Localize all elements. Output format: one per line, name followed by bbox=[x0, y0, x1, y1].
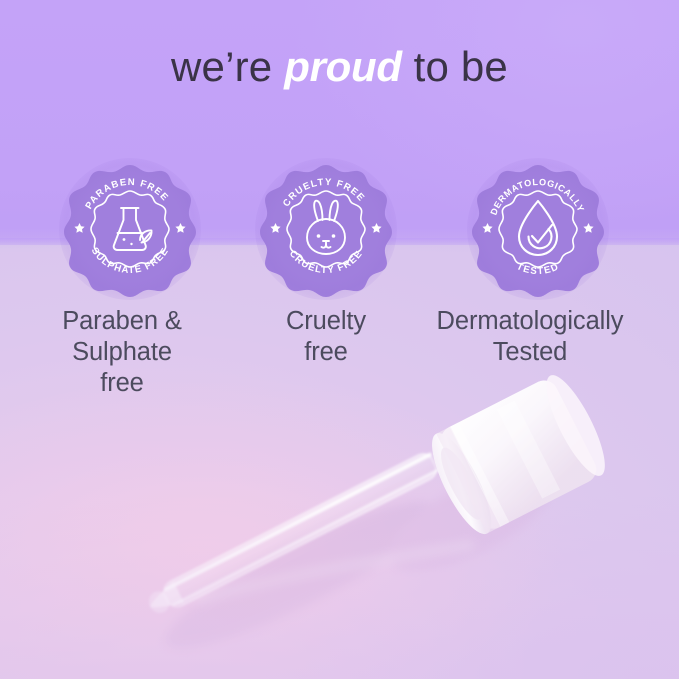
caption-line: free bbox=[0, 368, 252, 399]
badge-row: PARABEN FREE SULPHATE FREE bbox=[0, 163, 679, 295]
page-title: we’re proud to be bbox=[0, 44, 679, 90]
caption-row: Paraben & Sulphate free Cruelty free Der… bbox=[0, 306, 679, 416]
badge-paraben-sulphate-free: PARABEN FREE SULPHATE FREE bbox=[30, 163, 230, 295]
caption-line: Dermatologically bbox=[400, 306, 660, 337]
headline-emphasis: proud bbox=[284, 43, 401, 90]
promo-banner: we’re proud to be bbox=[0, 0, 679, 679]
badge-dermatologically-tested: DERMATOLOGICALLY TESTED bbox=[438, 163, 638, 295]
badge-cruelty-free: CRUELTY FREE CRUELTY FREE bbox=[226, 163, 426, 295]
headline-part-2: to be bbox=[402, 43, 508, 90]
headline-part-1: we’re bbox=[171, 43, 284, 90]
caption-line: Tested bbox=[400, 337, 660, 368]
caption-dermatologically-tested: Dermatologically Tested bbox=[400, 306, 660, 368]
